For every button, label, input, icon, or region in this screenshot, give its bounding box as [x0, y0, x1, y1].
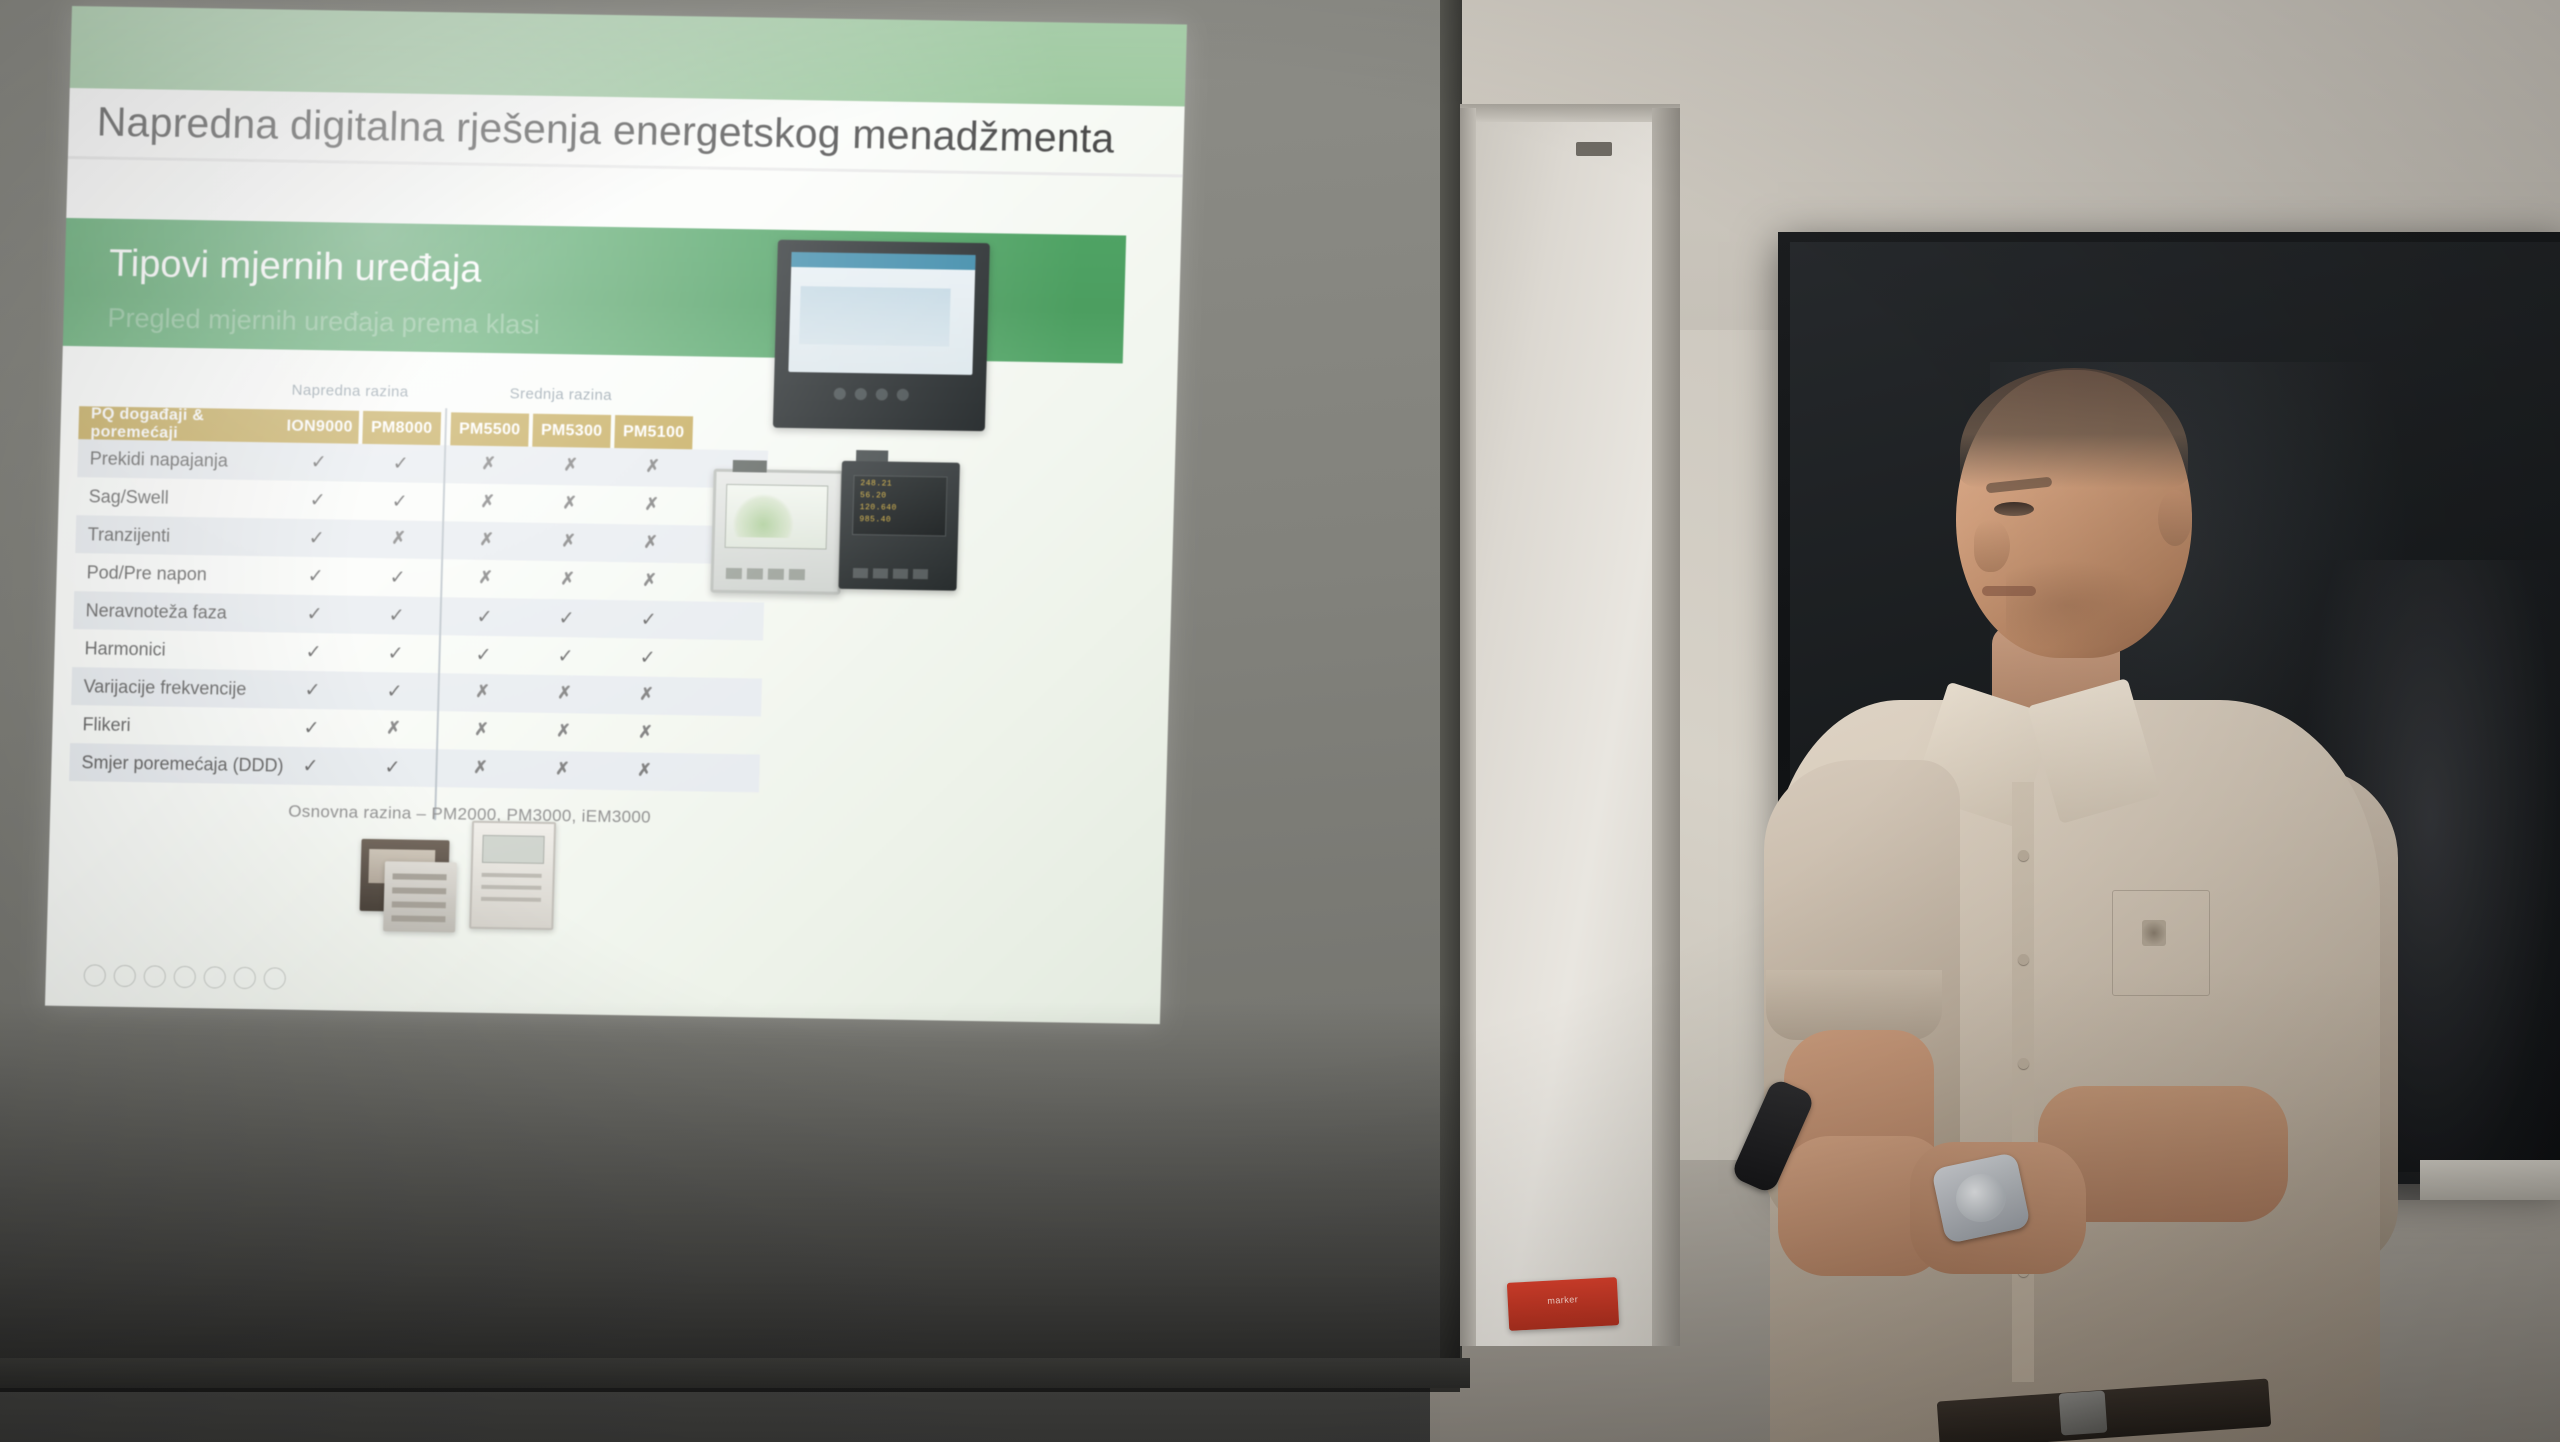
whiteboard-frame-top: [1460, 104, 1680, 122]
whiteboard-marker: marker: [1507, 1277, 1619, 1331]
shirt-button: [2018, 954, 2029, 965]
check-icon: ✓: [273, 678, 352, 702]
check-icon: ✓: [357, 604, 436, 628]
cross-icon: ✗: [611, 532, 690, 553]
wristwatch-face: [1952, 1169, 2011, 1226]
cross-icon: ✗: [612, 494, 691, 515]
presenter-hair: [1960, 368, 2188, 488]
cross-icon: ✗: [447, 529, 526, 550]
whiteboard-frame-left: [1460, 108, 1476, 1346]
check-icon: ✓: [360, 490, 439, 514]
slide-top-band: [70, 6, 1187, 106]
cross-icon: ✗: [359, 528, 438, 549]
cross-icon: ✗: [529, 531, 608, 552]
cross-icon: ✗: [528, 569, 607, 590]
cross-icon: ✗: [610, 570, 689, 591]
table-row-label: Pod/Pre napon: [86, 562, 207, 585]
device-image-pm3000: [383, 861, 457, 932]
device-readout-3: 120.640: [860, 503, 946, 513]
table-body: Prekidi napajanja✓✓✗✗✗Sag/Swell✓✓✗✗✗Tran…: [69, 439, 768, 792]
shirt-pocket-emblem: [2142, 920, 2166, 946]
cross-icon: ✗: [613, 456, 692, 477]
cross-icon: ✗: [525, 683, 604, 704]
check-icon: ✓: [275, 602, 354, 626]
cross-icon: ✗: [606, 722, 685, 743]
zoom-icon[interactable]: [233, 967, 256, 989]
cross-icon: ✗: [443, 681, 522, 702]
check-icon: ✓: [355, 680, 434, 704]
room-scene: Napredna digitalna rješenja energetskog …: [0, 0, 2560, 1442]
table-header-pm8000: PM8000: [362, 411, 441, 445]
check-icon: ✓: [278, 488, 357, 512]
check-icon: ✓: [271, 754, 350, 778]
cross-icon: ✗: [354, 718, 433, 739]
device-comparison-table: Napredna razina Srednja razina PQ događa…: [69, 378, 770, 792]
cross-icon: ✗: [607, 684, 686, 705]
check-icon: ✓: [353, 756, 432, 780]
check-icon: ✓: [272, 716, 351, 740]
table-header-pm5300: PM5300: [532, 414, 611, 448]
check-icon: ✓: [274, 640, 353, 664]
cross-icon: ✗: [449, 453, 528, 474]
cross-icon: ✗: [605, 760, 684, 781]
whiteboard-frame-right: [1652, 108, 1680, 1346]
shirt-button: [2018, 850, 2029, 861]
device-image-pm8000: 248.21 56.20 120.640 985.40: [839, 461, 960, 591]
pointer-icon[interactable]: [113, 965, 136, 987]
check-icon: ✓: [527, 607, 606, 631]
next-slide-icon[interactable]: [263, 967, 286, 989]
prev-slide-icon[interactable]: [83, 964, 106, 986]
device-image-pm5000: [710, 469, 843, 595]
table-row-label: Sag/Swell: [88, 486, 169, 508]
check-icon: ✓: [526, 645, 605, 669]
cross-icon: ✗: [524, 721, 603, 742]
section-title: Tipovi mjernih uređaja: [108, 243, 482, 292]
table-header-row-title: PQ događaji & poremećaji: [78, 406, 289, 442]
slide-title: Napredna digitalna rješenja energetskog …: [96, 98, 1147, 162]
level-label-middle: Srednja razina: [509, 385, 612, 404]
table-row-label: Flikeri: [82, 714, 131, 736]
whiteboard-clip: [1576, 142, 1612, 156]
table-header-pm5500: PM5500: [450, 412, 529, 446]
presenter-belt-buckle: [2059, 1390, 2108, 1435]
presenter-eye: [1994, 502, 2034, 516]
cross-icon: ✗: [448, 491, 527, 512]
check-icon: ✓: [356, 642, 435, 666]
presenter-nose: [1974, 520, 2010, 572]
presenter-ear: [2158, 490, 2192, 546]
screen-lower-shadow: [0, 1002, 1460, 1392]
check-icon: ✓: [361, 452, 440, 476]
cross-icon: ✗: [441, 757, 520, 778]
table-row-label: Neravnoteža faza: [85, 600, 227, 623]
grid-icon[interactable]: [203, 966, 226, 988]
table-row-label: Varijacije frekvencije: [83, 676, 246, 700]
slideshow-controls[interactable]: [83, 964, 286, 989]
table-row-label: Smjer poremećaja (DDD): [81, 752, 284, 776]
check-icon: ✓: [444, 643, 523, 667]
check-icon: ✓: [358, 566, 437, 590]
cross-icon: ✗: [530, 493, 609, 514]
check-icon: ✓: [609, 608, 688, 632]
whiteboard-marker-label: marker: [1508, 1292, 1618, 1308]
shirt-button: [2018, 1058, 2029, 1069]
table-row-label: Harmonici: [84, 638, 166, 660]
wall-ledge: [2420, 1160, 2560, 1200]
device-readout-1: 248.21: [860, 479, 946, 489]
cross-icon: ✗: [442, 719, 521, 740]
device-readout-4: 985.40: [859, 515, 945, 525]
table-row-label: Tranzijenti: [87, 524, 170, 546]
check-icon: ✓: [277, 526, 356, 550]
pen-icon[interactable]: [143, 965, 166, 987]
table-row-label: Prekidi napajanja: [89, 448, 228, 471]
cross-icon: ✗: [531, 455, 610, 476]
menu-icon[interactable]: [173, 966, 196, 988]
whiteboard: [1460, 108, 1680, 1346]
device-image-ion9000: [773, 240, 990, 431]
check-icon: ✓: [608, 646, 687, 670]
projection-screen-bottom-bar: [0, 1358, 1470, 1388]
cross-icon: ✗: [523, 759, 602, 780]
presenter-shirt-placket: [2012, 782, 2034, 1382]
check-icon: ✓: [445, 605, 524, 629]
table-header-pm5100: PM5100: [614, 415, 693, 449]
device-image-iem3000: [469, 821, 556, 930]
basic-level-note: Osnovna razina – PM2000, PM3000, iEM3000: [288, 802, 651, 828]
level-label-advanced: Napredna razina: [291, 382, 408, 401]
check-icon: ✓: [279, 450, 358, 474]
projected-slide: Napredna digitalna rješenja energetskog …: [45, 6, 1187, 1024]
check-icon: ✓: [276, 564, 355, 588]
device-readout-2: 56.20: [860, 491, 946, 501]
cross-icon: ✗: [446, 567, 525, 588]
presenter: [1760, 330, 2400, 1442]
table-header-ion9000: ION9000: [280, 410, 359, 444]
